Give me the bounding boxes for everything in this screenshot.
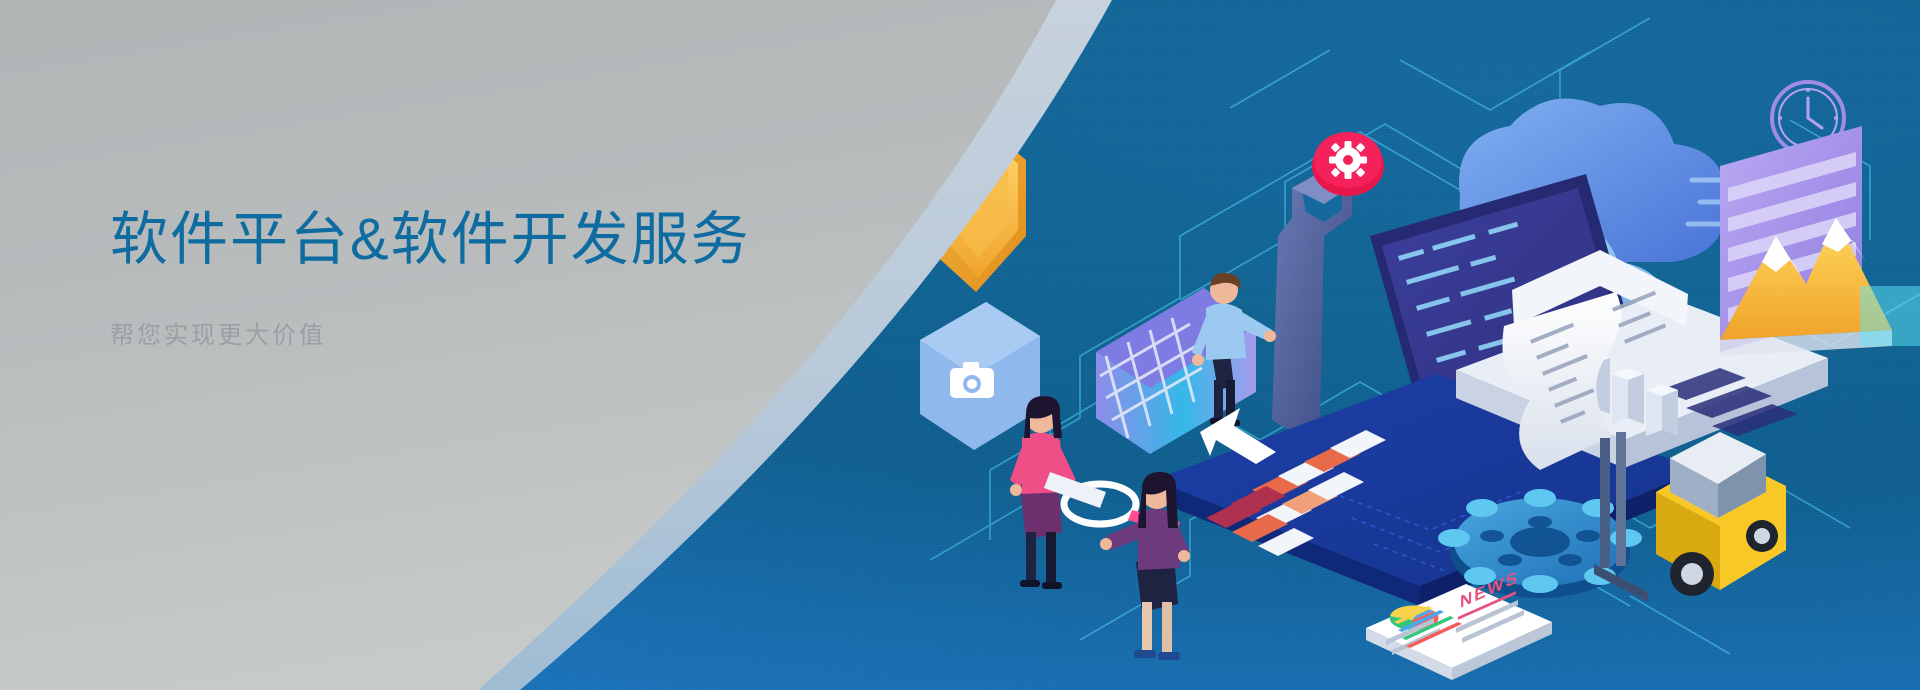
page-title: 软件平台&软件开发服务 bbox=[110, 205, 870, 276]
page-subtitle: 帮您实现更大价值 bbox=[110, 320, 870, 351]
forklift-icon bbox=[1594, 432, 1786, 602]
hero-banner: NEWS bbox=[0, 0, 1920, 690]
gear-badge-icon bbox=[1312, 132, 1384, 196]
hero-copy: 软件平台&软件开发服务 帮您实现更大价值 bbox=[110, 205, 870, 351]
wrench-icon bbox=[1272, 170, 1352, 434]
